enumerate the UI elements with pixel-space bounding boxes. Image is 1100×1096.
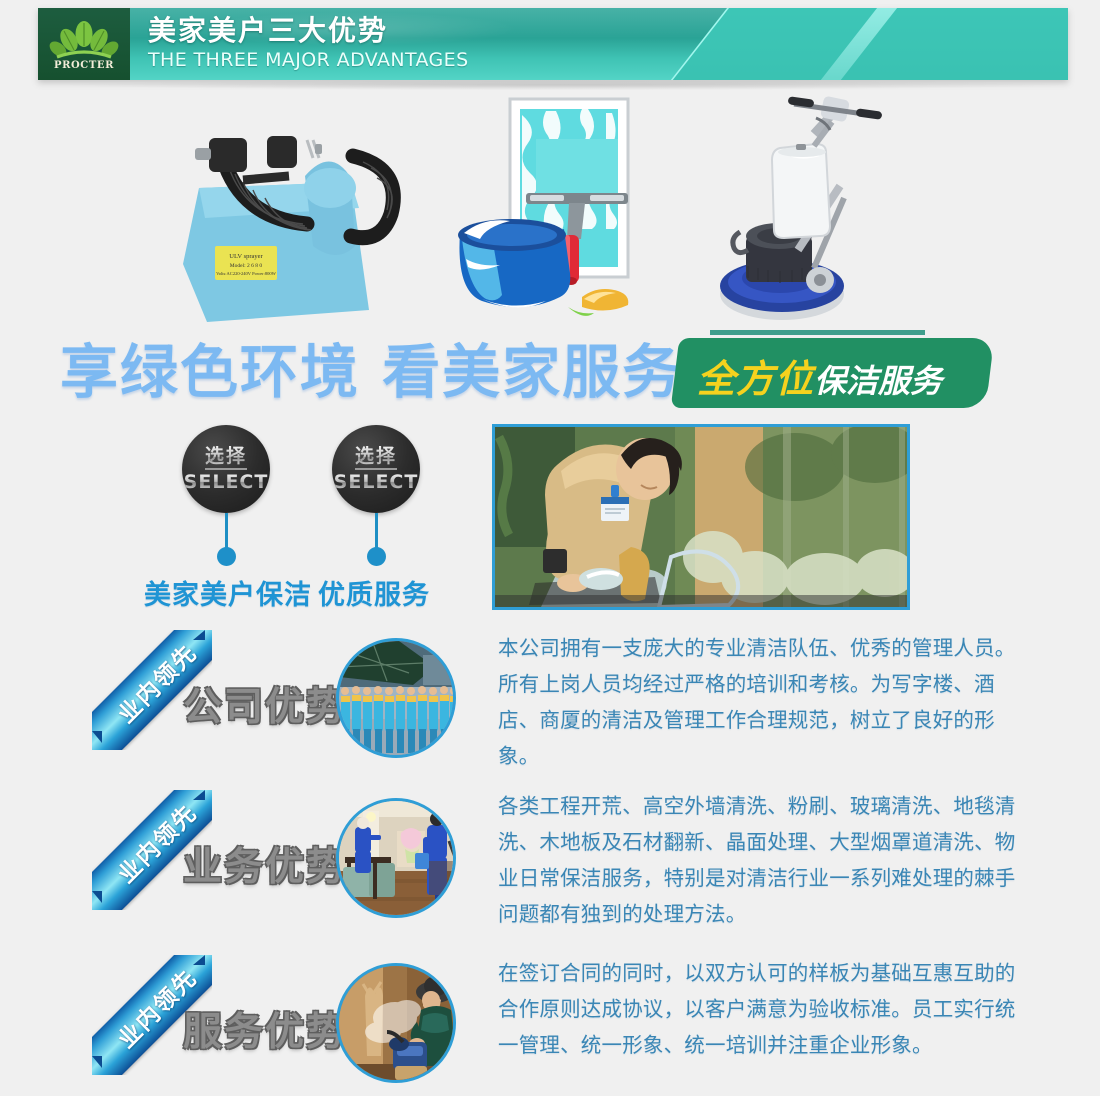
header-title-en: THE THREE MAJOR ADVANTAGES bbox=[148, 48, 469, 72]
green-leaves-crown-icon bbox=[49, 20, 119, 64]
hero-headline: 享绿色环境 看美家服务 bbox=[60, 337, 682, 407]
all-round-service-tag: 全方位保洁服务 bbox=[675, 338, 990, 408]
badge-en-text: SELECT bbox=[334, 472, 419, 492]
advantages-infographic-page: PROCTER 美家美户三大优势 THE THREE MAJOR ADVANTA… bbox=[0, 0, 1100, 1096]
company-logo: PROCTER bbox=[38, 8, 130, 80]
badge-circle: 选择 SELECT bbox=[182, 425, 270, 513]
indoor-cleaning-photo bbox=[339, 801, 456, 918]
select-badge-2: 选择 SELECT bbox=[332, 425, 420, 513]
badge-connector-line bbox=[375, 513, 378, 551]
badge-en-text: SELECT bbox=[184, 472, 269, 492]
badge-connector-dot bbox=[367, 547, 386, 566]
advantage-photo-service bbox=[336, 963, 456, 1083]
tag-text-group: 全方位保洁服务 bbox=[697, 348, 942, 403]
ribbon-tail-right bbox=[193, 955, 205, 965]
badge-label-2: 优质服务 bbox=[318, 573, 430, 612]
worker-photo-illustration bbox=[495, 427, 907, 607]
header-title-cn: 美家美户三大优势 bbox=[148, 15, 469, 47]
window-squeegee-photo bbox=[448, 93, 688, 333]
svg-text:Model: 2 6 8 0: Model: 2 6 8 0 bbox=[230, 263, 263, 269]
badge-cn-text: 选择 bbox=[205, 446, 247, 470]
ribbon-tail-left bbox=[92, 1056, 102, 1068]
ribbon-tail-left bbox=[92, 891, 102, 903]
tag-text-highlight: 全方位 bbox=[697, 357, 814, 401]
header-title-group: 美家美户三大优势 THE THREE MAJOR ADVANTAGES bbox=[148, 15, 469, 72]
advantage-description: 在签订合同的同时，以双方认可的样板为基础互惠互助的合作原则达成协议，以客户满意为… bbox=[498, 955, 1018, 1063]
ribbon-tail-right bbox=[193, 630, 205, 640]
select-badge-1: 选择 SELECT bbox=[182, 425, 270, 513]
badge-connector-line bbox=[225, 513, 228, 551]
svg-text:ULV sprayer: ULV sprayer bbox=[229, 253, 263, 260]
advantage-title: 公司优势 bbox=[183, 676, 347, 732]
advantage-photo-business bbox=[336, 798, 456, 918]
select-badge-group: 选择 SELECT 美家美户保洁 选择 SELECT 优质服务 bbox=[0, 425, 470, 620]
advantage-row-service: 业内领先 服务优势 bbox=[0, 953, 1100, 1096]
ribbon-tail-right bbox=[193, 790, 205, 800]
floor-polisher-photo bbox=[710, 90, 925, 335]
worker-cleaning-photo bbox=[492, 424, 910, 610]
ribbon-tail-left bbox=[92, 731, 102, 743]
badge-circle: 选择 SELECT bbox=[332, 425, 420, 513]
advantage-row-business: 业内领先 业务优势 bbox=[0, 788, 1100, 938]
logo-wordmark: PROCTER bbox=[54, 60, 114, 71]
ulv-sprayer-photo: ULV sprayer Model: 2 6 8 0 Volts:AC220-2… bbox=[155, 96, 425, 336]
product-photo-row: ULV sprayer Model: 2 6 8 0 Volts:AC220-2… bbox=[0, 88, 1100, 338]
svg-text:Volts:AC220-240V Power:800W: Volts:AC220-240V Power:800W bbox=[216, 271, 276, 276]
badge-connector-dot bbox=[217, 547, 236, 566]
staff-lineup-photo bbox=[339, 641, 456, 758]
advantage-description: 各类工程开荒、高空外墙清洗、粉刷、玻璃清洗、地毯清洗、木地板及石材翻新、晶面处理… bbox=[498, 788, 1018, 932]
badge-cn-text: 选择 bbox=[355, 446, 397, 470]
tag-text-rest: 保洁服务 bbox=[814, 362, 942, 400]
worker-spraying-photo bbox=[339, 966, 456, 1083]
badge-label-1: 美家美户保洁 bbox=[144, 573, 312, 612]
advantage-row-company: 业内领先 公司优势 bbox=[0, 628, 1100, 778]
advantage-photo-company bbox=[336, 638, 456, 758]
advantage-description: 本公司拥有一支庞大的专业清洁队伍、优秀的管理人员。所有上岗人员均经过严格的培训和… bbox=[498, 630, 1018, 774]
advantage-title: 服务优势 bbox=[183, 1001, 347, 1057]
header-banner: PROCTER 美家美户三大优势 THE THREE MAJOR ADVANTA… bbox=[38, 8, 1068, 80]
advantage-title: 业务优势 bbox=[183, 836, 347, 892]
